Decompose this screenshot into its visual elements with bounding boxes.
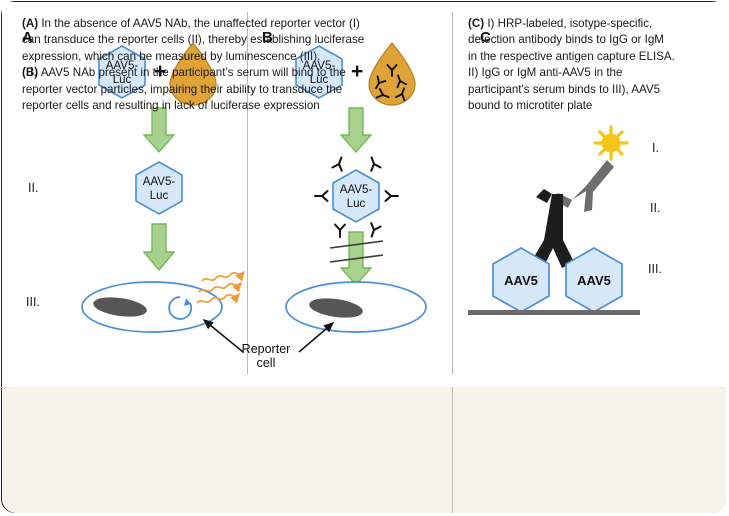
panel-c-step-numeral-2: II. <box>650 201 660 215</box>
hex-label-line1: AAV5- <box>340 184 373 196</box>
caption-a-prefix: (A) <box>22 17 38 30</box>
panel-a-reporter-cell <box>82 272 244 352</box>
caption-c-prefix: (C) <box>468 17 484 30</box>
panel-c-capsid-right: AAV5 <box>566 248 622 312</box>
caption-b-prefix: (B) <box>22 66 38 79</box>
capsid-label-right: AAV5 <box>577 273 611 288</box>
reporter-cell-label-line1: Reporter <box>242 342 291 356</box>
panel-b-reporter-cell <box>286 282 426 352</box>
caption-c-line6: bound to microtiter plate <box>468 98 716 114</box>
hex-label-line2: Luc <box>347 198 366 210</box>
figure-root: AAV5- Luc AAV5- Luc <box>0 0 729 516</box>
hrp-signal-sun-icon <box>595 127 627 159</box>
caption-a-line1: In the absence of AAV5 NAb, the unaffect… <box>38 17 360 30</box>
reporter-cell-annotation: Reporter cell <box>230 342 302 371</box>
caption-b-line3: reporter cells and resulting in lack of … <box>22 98 434 114</box>
caption-left: (A) In the absence of AAV5 NAb, the unaf… <box>22 16 434 115</box>
microtiter-plate-icon <box>468 310 640 315</box>
caption-right: (C) I) HRP-labeled, isotype-specific, de… <box>468 16 716 115</box>
caption-b-line1: AAV5 NAb present in the participant’s se… <box>38 66 346 79</box>
caption-a-line3: expression, which can be measured by lum… <box>22 49 434 65</box>
panel-c-step-numeral-1: I. <box>652 141 659 155</box>
capsid-label-left: AAV5 <box>504 273 538 288</box>
panel-b-vector-hexagon-step2-neutralized: AAV5- Luc <box>315 156 398 239</box>
panel-c-step-numeral-3: III. <box>648 262 662 276</box>
panel-a-arrow-step2-to-3 <box>144 224 174 270</box>
panel-a-step-numeral-3: III. <box>26 295 40 309</box>
caption-area <box>3 387 726 513</box>
caption-c-line2: detection antibody binds to IgG or IgM <box>468 32 716 48</box>
caption-c-line5: participant's serum binds to III), AAV5 <box>468 82 716 98</box>
hex-label-line1: AAV5- <box>143 176 176 188</box>
hex-label-line2: Luc <box>150 190 169 202</box>
caption-c-line1: I) HRP-labeled, isotype-specific, <box>484 17 652 30</box>
reporter-cell-label-line2: cell <box>257 356 276 370</box>
panel-a-step-numeral-2: II. <box>28 181 38 195</box>
caption-b-line2: reporter vector particles, impairing the… <box>22 82 434 98</box>
caption-c-line3: in the respective antigen capture ELISA. <box>468 49 716 65</box>
caption-divider <box>452 387 453 513</box>
panel-b-arrow-blocked <box>330 232 383 285</box>
caption-a-line2: can transduce the reporter cells (II), t… <box>22 32 434 48</box>
panel-a-vector-hexagon-step2: AAV5- Luc <box>136 162 182 214</box>
caption-c-line4: II) IgG or IgM anti-AAV5 in the <box>468 65 716 81</box>
